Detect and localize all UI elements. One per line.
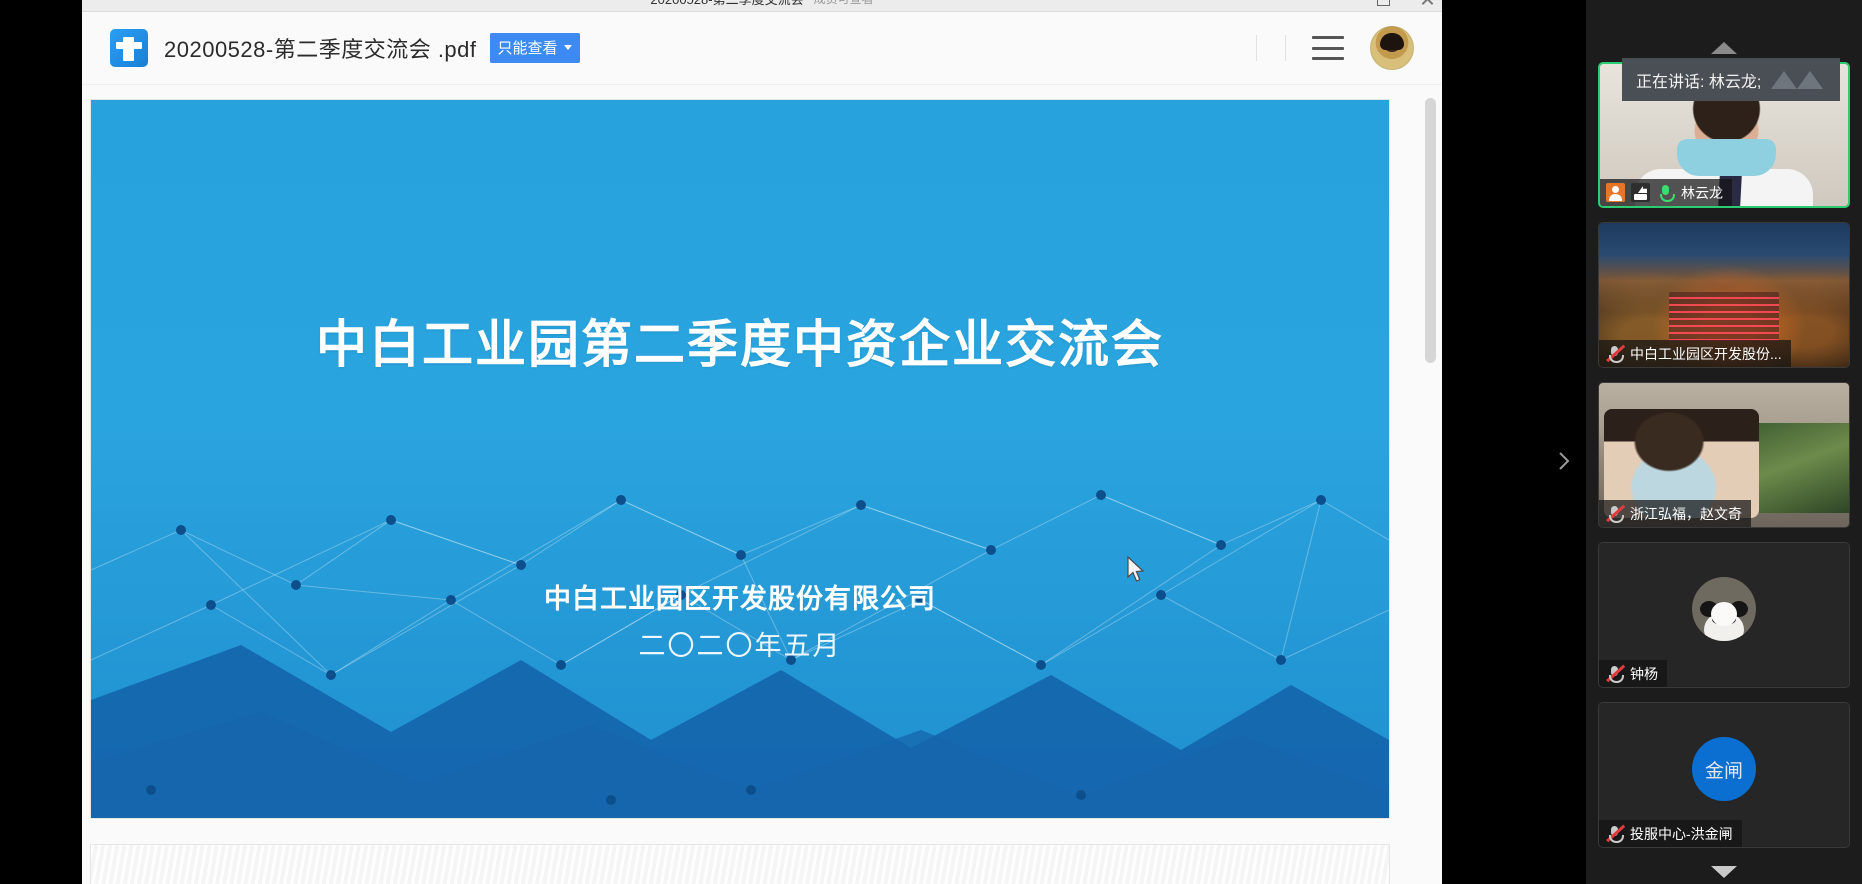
window-title: 20200528-第二季度交流会 [650, 0, 803, 8]
avatar-initials: 金闸 [1692, 737, 1756, 801]
participant-name: 钟杨 [1630, 664, 1658, 684]
hamburger-bar [1312, 36, 1344, 39]
speaking-tooltip: 正在讲话: 林云龙; [1622, 58, 1840, 101]
maximize-icon[interactable] [1376, 0, 1390, 6]
slide-title: 中白工业园第二季度中资企业交流会 [91, 303, 1389, 377]
participant-tile[interactable]: 中白工业园区开发股份... [1598, 222, 1850, 368]
triangle-down-icon[interactable] [1711, 866, 1737, 878]
participant-footer: 浙江弘福，赵文奇 [1599, 500, 1751, 527]
participant-footer: 中白工业园区开发股份... [1599, 340, 1791, 367]
participant-footer: 林云龙 [1600, 179, 1732, 206]
close-icon[interactable] [1420, 0, 1434, 6]
participant-video-panel: 林云龙 中白工业园区开发股份... 浙江弘福，赵文奇 [1586, 0, 1862, 884]
window-titlebar: 20200528-第二季度交流会 成员可查看 [82, 0, 1442, 12]
mic-off-icon [1605, 824, 1624, 843]
chevron-right-icon[interactable] [1551, 445, 1577, 477]
document-scrollbar-thumb[interactable] [1425, 98, 1436, 363]
slide-page-1[interactable]: 中白工业园第二季度中资企业交流会 中白工业园区开发股份有限公司 二〇二〇年五月 [91, 100, 1389, 818]
window-permission-label: 成员可查看 [814, 0, 874, 7]
permission-badge-label: 只能查看 [498, 37, 558, 58]
mic-on-icon [1656, 183, 1675, 202]
toolbar-divider [1285, 35, 1286, 61]
avatar-panda [1692, 577, 1756, 641]
wps-pdf-icon [110, 29, 148, 67]
right-gutter [1442, 0, 1592, 884]
hamburger-menu-icon[interactable] [1312, 36, 1344, 60]
document-title: 20200528-第二季度交流会 .pdf [164, 32, 477, 64]
permission-badge[interactable]: 只能查看 [490, 33, 580, 63]
host-icon [1606, 183, 1625, 202]
document-scrollbar-track[interactable] [1425, 90, 1436, 880]
participant-tile[interactable]: 浙江弘福，赵文奇 [1598, 382, 1850, 528]
participant-name: 中白工业园区开发股份... [1630, 344, 1782, 364]
screen-share-icon [1631, 183, 1650, 202]
chevron-down-icon [564, 45, 572, 50]
participant-footer: 钟杨 [1599, 660, 1667, 687]
triangle-up-icon[interactable] [1711, 42, 1737, 54]
participant-name: 林云龙 [1681, 183, 1723, 203]
participant-name: 投服中心-洪金闸 [1630, 824, 1733, 844]
slide-date: 二〇二〇年五月 [91, 624, 1389, 663]
audio-wave-icon [1771, 71, 1823, 89]
participant-footer: 投服中心-洪金闸 [1599, 820, 1742, 847]
window-controls[interactable] [1332, 0, 1434, 12]
document-scroll-area[interactable]: 中白工业园第二季度中资企业交流会 中白工业园区开发股份有限公司 二〇二〇年五月 [82, 85, 1442, 884]
window-title-group: 20200528-第二季度交流会 成员可查看 [650, 0, 873, 8]
app-toolbar: 20200528-第二季度交流会 .pdf 只能查看 [82, 12, 1442, 85]
polygon-background-graphic [91, 100, 1389, 818]
screen-root: 20200528-第二季度交流会 成员可查看 20200528-第二季度交流会 … [0, 0, 1862, 884]
mic-off-icon [1605, 504, 1624, 523]
slide-organization: 中白工业园区开发股份有限公司 [91, 577, 1389, 616]
participant-tile[interactable]: 金闸 投服中心-洪金闸 [1598, 702, 1850, 848]
mic-off-icon [1605, 664, 1624, 683]
hamburger-bar [1312, 47, 1344, 50]
participant-name: 浙江弘福，赵文奇 [1630, 504, 1742, 524]
toolbar-divider [1256, 35, 1257, 61]
participant-tile[interactable]: 钟杨 [1598, 542, 1850, 688]
toolbar-right-group [1242, 26, 1414, 70]
document-window: 20200528-第二季度交流会 成员可查看 20200528-第二季度交流会 … [82, 0, 1442, 884]
chevron-right-glyph [1557, 450, 1571, 472]
mic-off-icon [1605, 344, 1624, 363]
speaking-tooltip-label: 正在讲话: 林云龙; [1636, 68, 1761, 92]
user-avatar[interactable] [1370, 26, 1414, 70]
minimize-icon[interactable] [1332, 0, 1346, 6]
slide-page-2[interactable] [91, 845, 1389, 884]
hamburger-bar [1312, 57, 1344, 60]
